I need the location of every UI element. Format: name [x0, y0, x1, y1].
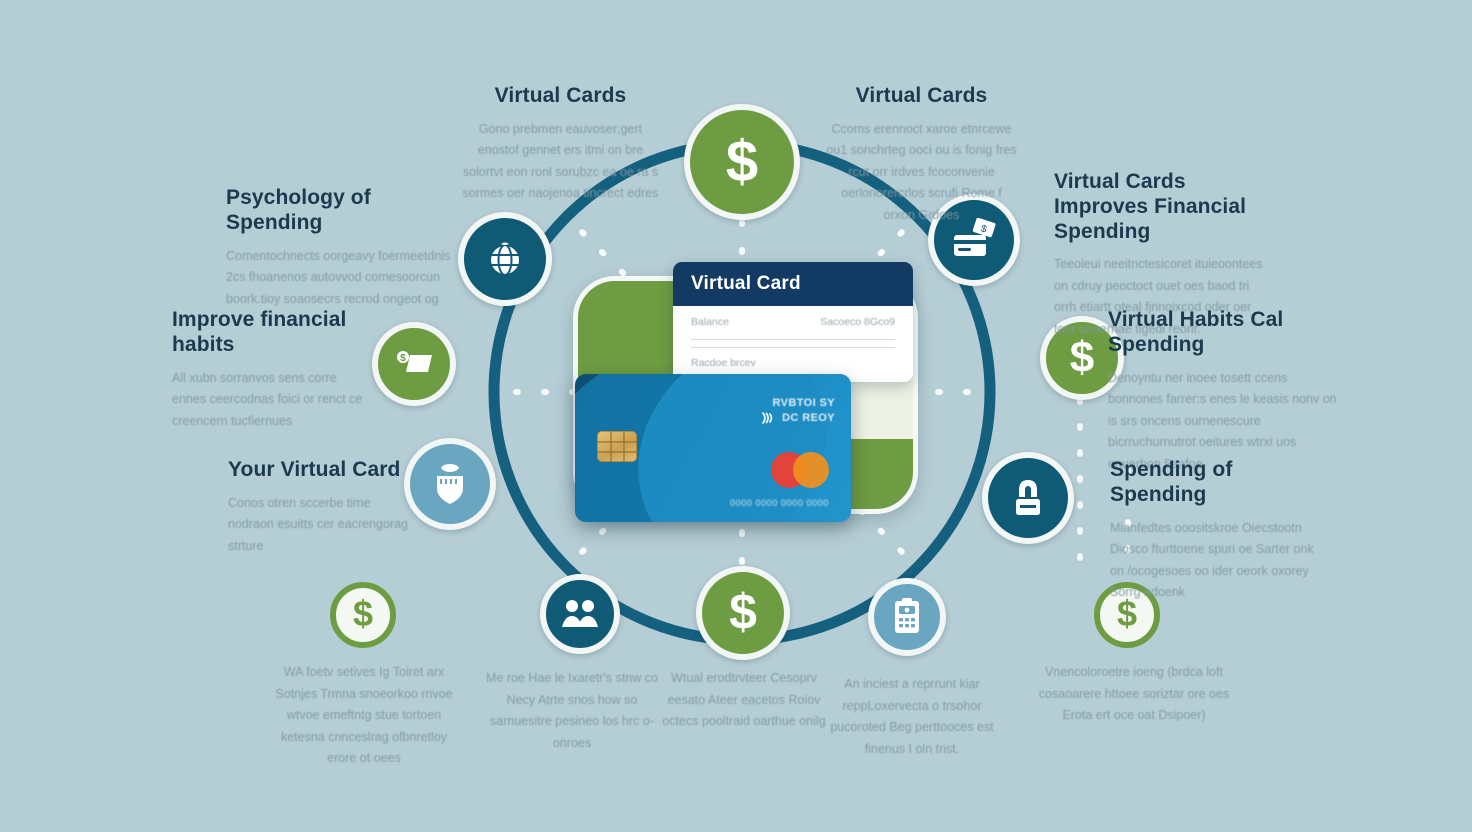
shield-person-icon — [429, 460, 471, 508]
caption-5: Vnencoloroetre ioeng (brdca loft cosaoar… — [1038, 662, 1230, 727]
dollar-icon: $ — [1063, 335, 1101, 381]
caption-4-body: An inciest a reprrunt kiar reppLoxervect… — [828, 674, 996, 760]
heading-top-left: Psychology of Spending — [226, 186, 456, 236]
heading-mid-right: Virtual Habits Cal Spending — [1108, 308, 1338, 358]
emv-chip-icon — [597, 431, 637, 462]
heading-top-center: Virtual Cards — [458, 84, 663, 109]
heading-lower-right: Spending of Spending — [1110, 458, 1325, 508]
svg-text:$: $ — [1070, 335, 1094, 381]
caption-1-body: WA foetv setives Ig Toiret arx Sotnjes T… — [268, 662, 460, 770]
text-block-top-left: Psychology of Spending Comentochnects oo… — [226, 186, 456, 310]
text-block-top-center: Virtual Cards Gono prebmen eauvoser;gert… — [458, 84, 663, 205]
caption-2: Me roe Hae le Ixaretr's stnw co Necy Atr… — [486, 668, 658, 754]
node-dollar-bottom[interactable]: $ — [696, 566, 790, 660]
card-brand-line-1: RVBTOI SY — [773, 396, 836, 411]
virtual-card-panel[interactable]: Virtual Card Balance Sacoeco 8Gco9 Racdo… — [673, 262, 913, 382]
central-card-composition: Virtual Card Balance Sacoeco 8Gco9 Racdo… — [563, 262, 923, 524]
card-brand-text: RVBTOI SY DC REOY — [773, 396, 836, 426]
svg-text:$: $ — [729, 587, 757, 639]
secondary-label: Racdoe brcev — [673, 355, 913, 371]
caption-2-body: Me roe Hae le Ixaretr's stnw co Necy Atr… — [486, 668, 658, 754]
divider-1 — [691, 339, 895, 340]
caption-3-body: Wtual erodtrvteer Cesoprv eesato Ateer e… — [660, 668, 828, 733]
node-dollar-top[interactable]: $ — [684, 104, 800, 220]
node-calculator[interactable] — [868, 578, 946, 656]
node-globe[interactable] — [458, 212, 552, 306]
body-top-center: Gono prebmen eauvoser;gert enostof genne… — [458, 119, 663, 205]
virtual-card-title: Virtual Card — [691, 273, 801, 295]
svg-text:$: $ — [353, 596, 373, 634]
node-people[interactable] — [540, 574, 620, 654]
heading-mid-left: Improve financial habits — [172, 308, 372, 358]
hand-money-icon: $ — [392, 345, 436, 383]
dollar-coin-icon: $ — [348, 596, 378, 634]
card-number: 0000 0000 0000 0000 — [730, 498, 829, 508]
people-icon — [560, 597, 600, 631]
body-top-right: Ccoms erennoct xaroe etnrcewe ou1 sonchr… — [824, 119, 1019, 227]
globe-icon — [483, 237, 527, 281]
heading-lower-left: Your Virtual Card — [228, 458, 418, 483]
caption-5-body: Vnencoloroetre ioeng (brdca loft cosaoar… — [1038, 662, 1230, 727]
svg-text:$: $ — [400, 353, 406, 364]
caption-1: WA foetv setives Ig Toiret arx Sotnjes T… — [268, 662, 460, 770]
caption-3: Wtual erodtrvteer Cesoprv eesato Ateer e… — [660, 668, 828, 733]
text-block-lower-right: Spending of Spending Mianfedtes ooositsk… — [1110, 458, 1325, 604]
dollar-icon: $ — [716, 131, 768, 193]
svg-text:$: $ — [726, 131, 758, 193]
body-mid-left: All xubn sorranvos sens corre ennes ceer… — [172, 368, 372, 433]
card-brand-line-2: DC REOY — [773, 411, 836, 426]
text-block-mid-left: Improve financial habits All xubn sorran… — [172, 308, 372, 432]
body-lower-right: Mianfedtes ooositskroe Oiecstootn Diosco… — [1110, 518, 1325, 604]
calculator-icon — [890, 597, 924, 637]
text-block-top-right: Virtual Cards Ccoms erennoct xaroe etnrc… — [824, 84, 1019, 226]
heading-top-right: Virtual Cards — [824, 84, 1019, 109]
body-top-left: Comentochnects oorgeavy foermeetdnis 2cs… — [226, 246, 456, 311]
infographic-canvas: $ $ $ $ — [0, 0, 1472, 832]
caption-4: An inciest a reprrunt kiar reppLoxervect… — [828, 674, 996, 760]
balance-label: Balance — [691, 316, 729, 328]
physical-credit-card[interactable]: RVBTOI SY DC REOY 0000 0000 0000 0000 — [575, 374, 851, 522]
lock-icon — [1008, 475, 1048, 521]
node-lock[interactable] — [982, 452, 1074, 544]
divider-2 — [691, 347, 895, 348]
body-lower-left: Conos otren sccerbe time nodraon esuitts… — [228, 493, 418, 558]
node-coin-left[interactable]: $ — [330, 582, 396, 648]
text-block-mid-right: Virtual Habits Cal Spending Denoyntu ner… — [1108, 308, 1338, 475]
dollar-icon: $ — [722, 587, 764, 639]
text-block-lower-left: Your Virtual Card Conos otren sccerbe ti… — [228, 458, 418, 557]
virtual-card-header: Virtual Card — [673, 262, 913, 306]
balance-value: Sacoeco 8Gco9 — [820, 316, 895, 328]
node-hand-money[interactable]: $ — [372, 322, 456, 406]
mastercard-logo-icon — [771, 452, 829, 488]
heading-upper-right: Virtual Cards Improves Financial Spendin… — [1054, 170, 1269, 244]
balance-row: Balance Sacoeco 8Gco9 — [673, 306, 913, 332]
